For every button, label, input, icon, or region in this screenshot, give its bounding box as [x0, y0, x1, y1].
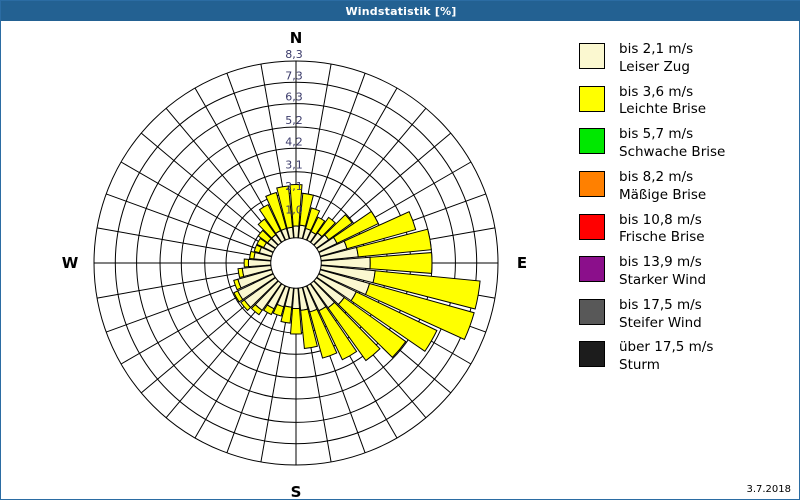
- legend-speed-label: bis 8,2 m/s: [619, 169, 706, 187]
- legend-item: bis 10,8 m/sFrische Brise: [579, 212, 794, 248]
- legend-swatch-icon: [579, 171, 605, 197]
- legend-class-label: Steifer Wind: [619, 315, 702, 333]
- window-title-bar: Windstatistik [%]: [1, 1, 800, 21]
- footer-date: 3.7.2018: [746, 484, 791, 495]
- legend: bis 2,1 m/sLeiser Zugbis 3,6 m/sLeichte …: [579, 41, 794, 382]
- radial-tick-label: 2,1: [285, 180, 303, 193]
- legend-class-label: Leiser Zug: [619, 59, 693, 77]
- legend-label: bis 10,8 m/sFrische Brise: [619, 212, 705, 248]
- radial-tick-label: 3,1: [285, 159, 303, 172]
- legend-speed-label: bis 17,5 m/s: [619, 297, 702, 315]
- legend-class-label: Starker Wind: [619, 272, 706, 290]
- compass-label-west: W: [62, 254, 79, 272]
- radial-tick-label: 4,2: [285, 135, 303, 148]
- wind-rose-plot: 1,02,13,14,25,26,37,38,3NESW: [1, 21, 561, 499]
- legend-class-label: Frische Brise: [619, 229, 705, 247]
- legend-item: über 17,5 m/sSturm: [579, 339, 794, 375]
- radial-tick-label: 1,0: [285, 204, 303, 217]
- legend-speed-label: über 17,5 m/s: [619, 339, 713, 357]
- legend-class-label: Schwache Brise: [619, 144, 725, 162]
- legend-item: bis 13,9 m/sStarker Wind: [579, 254, 794, 290]
- legend-class-label: Sturm: [619, 357, 713, 375]
- legend-label: über 17,5 m/sSturm: [619, 339, 713, 375]
- compass-label-east: E: [517, 254, 527, 272]
- wind-statistics-window: Windstatistik [%] 1,02,13,14,25,26,37,38…: [0, 0, 800, 500]
- legend-speed-label: bis 3,6 m/s: [619, 84, 706, 102]
- legend-class-label: Leichte Brise: [619, 101, 706, 119]
- radial-tick-label: 5,2: [285, 114, 303, 127]
- legend-label: bis 17,5 m/sSteifer Wind: [619, 297, 702, 333]
- radial-tick-label: 7,3: [285, 69, 303, 82]
- legend-swatch-icon: [579, 341, 605, 367]
- legend-class-label: Mäßige Brise: [619, 187, 706, 205]
- rose-petal-segment: [291, 308, 302, 334]
- window-title: Windstatistik [%]: [345, 5, 456, 18]
- legend-swatch-icon: [579, 256, 605, 282]
- legend-label: bis 3,6 m/sLeichte Brise: [619, 84, 706, 120]
- wind-rose-svg: 1,02,13,14,25,26,37,38,3NESW: [1, 21, 561, 499]
- legend-label: bis 13,9 m/sStarker Wind: [619, 254, 706, 290]
- legend-item: bis 3,6 m/sLeichte Brise: [579, 84, 794, 120]
- legend-swatch-icon: [579, 86, 605, 112]
- legend-swatch-icon: [579, 43, 605, 69]
- legend-swatch-icon: [579, 299, 605, 325]
- rose-petal-segment: [370, 253, 432, 274]
- legend-speed-label: bis 5,7 m/s: [619, 126, 725, 144]
- radial-tick-label: 6,3: [285, 91, 303, 104]
- rose-petal-segment: [293, 226, 299, 238]
- legend-speed-label: bis 10,8 m/s: [619, 212, 705, 230]
- legend-item: bis 8,2 m/sMäßige Brise: [579, 169, 794, 205]
- legend-speed-label: bis 2,1 m/s: [619, 41, 693, 59]
- radial-tick-label: 8,3: [285, 48, 303, 61]
- rose-petals: [234, 185, 480, 361]
- legend-swatch-icon: [579, 128, 605, 154]
- legend-item: bis 5,7 m/sSchwache Brise: [579, 126, 794, 162]
- rose-petal-segment: [238, 268, 244, 277]
- legend-label: bis 5,7 m/sSchwache Brise: [619, 126, 725, 162]
- rose-petal-segment: [250, 251, 255, 258]
- legend-item: bis 17,5 m/sSteifer Wind: [579, 297, 794, 333]
- compass-label-south: S: [291, 483, 302, 499]
- legend-swatch-icon: [579, 214, 605, 240]
- legend-label: bis 8,2 m/sMäßige Brise: [619, 169, 706, 205]
- legend-speed-label: bis 13,9 m/s: [619, 254, 706, 272]
- rose-petal-segment: [244, 259, 248, 267]
- legend-item: bis 2,1 m/sLeiser Zug: [579, 41, 794, 77]
- compass-label-north: N: [290, 29, 303, 47]
- legend-label: bis 2,1 m/sLeiser Zug: [619, 41, 693, 77]
